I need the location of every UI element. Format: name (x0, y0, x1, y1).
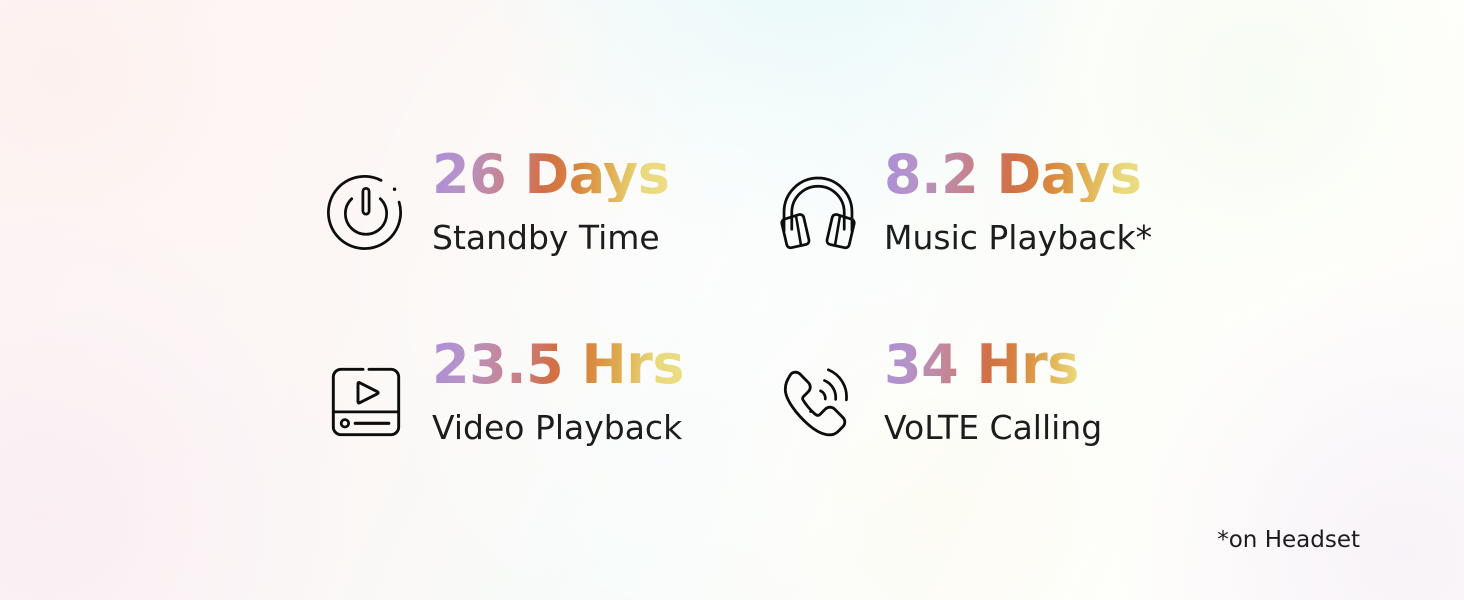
footnote-on-headset: *on Headset (1217, 527, 1360, 553)
stat-item-standby-time: 26 Days Standby Time (318, 148, 770, 338)
stats-grid: 26 Days Standby Time 8.2 Days Music Play… (318, 148, 1218, 528)
stat-label-video-playback: Video Playback (432, 411, 684, 444)
video-player-icon (318, 354, 414, 450)
stat-text-volte-calling: 34 Hrs VoLTE Calling (866, 338, 1102, 444)
stat-value-volte-calling: 34 Hrs (884, 338, 1102, 392)
stat-value-standby-time: 26 Days (432, 148, 669, 202)
stat-label-music-playback: Music Playback* (884, 221, 1152, 254)
stat-value-music-playback: 8.2 Days (884, 148, 1152, 202)
stat-label-volte-calling: VoLTE Calling (884, 411, 1102, 444)
headphones-icon (770, 164, 866, 260)
phone-call-icon (770, 354, 866, 450)
stat-value-video-playback: 23.5 Hrs (432, 338, 684, 392)
stat-item-volte-calling: 34 Hrs VoLTE Calling (770, 338, 1218, 528)
stat-item-music-playback: 8.2 Days Music Playback* (770, 148, 1218, 338)
stat-item-video-playback: 23.5 Hrs Video Playback (318, 338, 770, 528)
stat-text-music-playback: 8.2 Days Music Playback* (866, 148, 1152, 254)
power-button-icon (318, 164, 414, 260)
stat-label-standby-time: Standby Time (432, 221, 669, 254)
stat-text-video-playback: 23.5 Hrs Video Playback (414, 338, 684, 444)
stat-text-standby-time: 26 Days Standby Time (414, 148, 669, 254)
battery-specs-banner: 26 Days Standby Time 8.2 Days Music Play… (0, 0, 1464, 600)
